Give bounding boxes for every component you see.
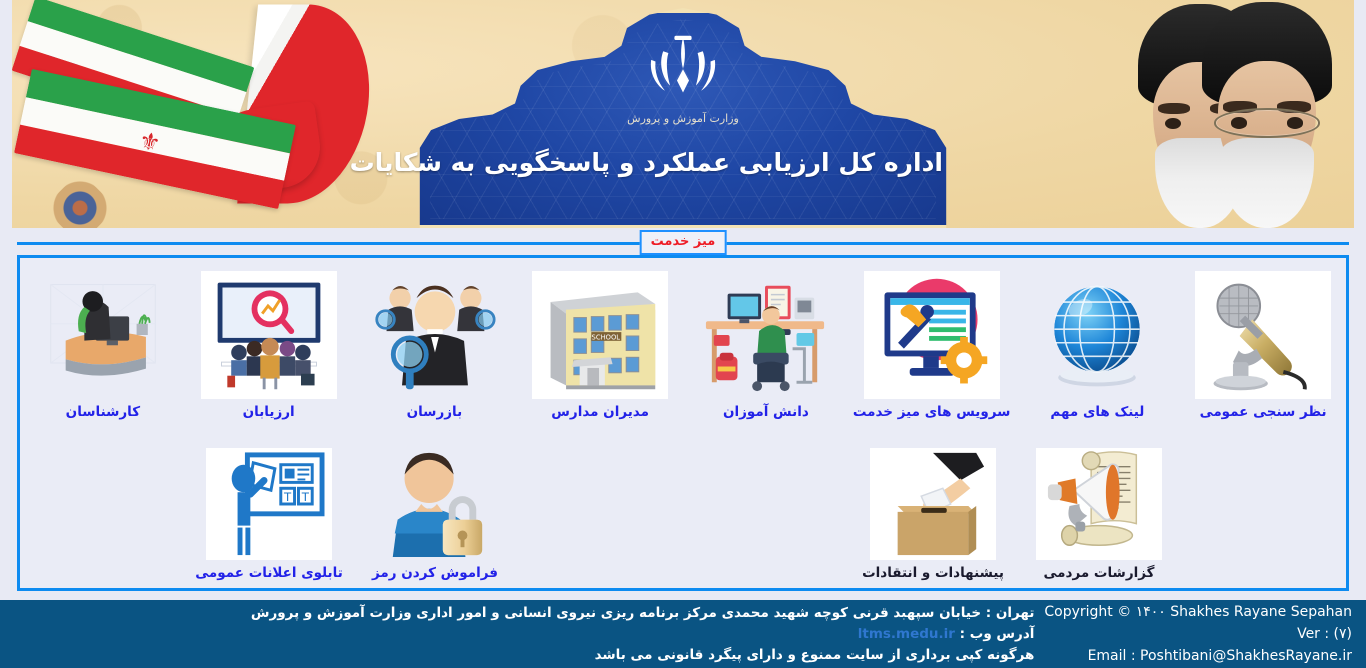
iran-emblem-icon: [640, 34, 726, 108]
leaders-portraits: [1134, 0, 1342, 228]
website-line: آدرس وب : ltms.medu.ir: [14, 624, 1034, 645]
copy-notice-text: هرگونه کپی برداری از سایت ممنوع و دارای …: [14, 645, 1034, 666]
website-link[interactable]: ltms.medu.ir: [858, 626, 955, 642]
suggestion-ballot-box-icon: [870, 448, 996, 560]
tile-arzyaban[interactable]: ارزیابان: [186, 271, 352, 420]
iran-flag-ribbon-icon: ⚜: [12, 0, 432, 228]
tab-service-desk[interactable]: میز خدمت: [640, 230, 727, 255]
tile-label: دانش آموزان: [723, 404, 809, 420]
service-row-2: T T تابلوی اعلانات عمومی: [20, 448, 1346, 588]
service-desk-panel: کارشناسان: [17, 258, 1349, 591]
tile-servis-haye-miz-khedmat[interactable]: سرویس های میز خدمت: [849, 271, 1015, 420]
tile-danesh-amoozan[interactable]: دانش آموزان: [683, 271, 849, 420]
tile-label: لینک های مهم: [1050, 404, 1144, 420]
tile-label: پیشنهادات و انتقادات: [862, 565, 1004, 581]
tile-bazrasan[interactable]: بازرسان: [352, 271, 518, 420]
svg-text:SCHOOL: SCHOOL: [592, 333, 621, 341]
service-desk-tools-monitor-icon: [864, 271, 1000, 399]
inspector-magnifier-icon: [366, 271, 502, 399]
service-row-1: کارشناسان: [20, 258, 1346, 448]
service-desk-tab-strip: میز خدمت: [0, 228, 1366, 258]
ministry-label: وزارت آموزش و پرورش: [533, 112, 833, 125]
portrait-khamenei-icon: [1202, 2, 1332, 228]
forgot-password-lock-icon: [372, 448, 498, 560]
megaphone-scroll-icon: [1036, 448, 1162, 560]
tile-label: سرویس های میز خدمت: [853, 404, 1011, 420]
banner-background: ⚜ وزارت آموزش و پرورش اداره کل ار: [12, 0, 1354, 228]
tile-label: بازرسان: [407, 404, 463, 420]
tile-karshenasan[interactable]: کارشناسان: [20, 271, 186, 420]
tile-link-haye-mohem[interactable]: لینک های مهم: [1015, 271, 1181, 420]
svg-text:T: T: [283, 490, 292, 504]
tile-faramoosh-kardan-ramz[interactable]: فراموش کردن رمز: [352, 448, 518, 581]
globe-icon: [1029, 271, 1165, 399]
copyright-text: Copyright © ۱۴۰۰ Shakhes Rayane Sepahan: [1044, 601, 1352, 623]
expert-desk-icon: [35, 271, 171, 399]
tile-modiran-madares[interactable]: SCHOOL مدیران مدارس: [517, 271, 683, 420]
tile-label: فراموش کردن رمز: [372, 565, 498, 581]
footer-left-block: Copyright © ۱۴۰۰ Shakhes Rayane Sepahan …: [1034, 601, 1352, 667]
student-desk-icon: [698, 271, 834, 399]
banner-arch-plaque: وزارت آموزش و پرورش اداره کل ارزیابی عمل…: [403, 8, 963, 228]
version-text: Ver : (۷): [1044, 623, 1352, 645]
tile-tabloye-elanat-omoomi[interactable]: T T تابلوی اعلانات عمومی: [186, 448, 352, 581]
svg-text:T: T: [301, 490, 310, 504]
site-banner: ⚜ وزارت آموزش و پرورش اداره کل ار: [0, 0, 1366, 228]
tile-label: کارشناسان: [66, 404, 140, 420]
footer-right-block: تهران : خیابان سپهبد قرنی کوچه شهید محمد…: [14, 603, 1034, 666]
microphone-icon: [1195, 271, 1331, 399]
tile-label: نظر سنجی عمومی: [1200, 404, 1327, 420]
site-footer: Copyright © ۱۴۰۰ Shakhes Rayane Sepahan …: [0, 600, 1366, 668]
tile-label: تابلوی اعلانات عمومی: [195, 565, 343, 581]
website-label: آدرس وب :: [960, 626, 1035, 642]
tile-label: مدیران مدارس: [551, 404, 649, 420]
address-text: تهران : خیابان سپهبد قرنی کوچه شهید محمد…: [14, 603, 1034, 624]
tile-gozareshat-mardomi[interactable]: گزارشات مردمی: [1016, 448, 1182, 581]
tile-label: ارزیابان: [243, 404, 295, 420]
school-building-icon: SCHOOL: [532, 271, 668, 399]
evaluators-meeting-icon: [201, 271, 337, 399]
department-title: اداره کل ارزیابی عملکرد و پاسخگویی به شک…: [423, 148, 943, 177]
tile-pishnahadat-va-enteghadat[interactable]: پیشنهادات و انتقادات: [850, 448, 1016, 581]
public-bulletin-board-icon: T T: [206, 448, 332, 560]
tile-label: گزارشات مردمی: [1044, 565, 1155, 581]
tile-nazar-sanji-omoomi[interactable]: نظر سنجی عمومی: [1180, 271, 1346, 420]
email-text: Email : Poshtibani@ShakhesRayane.ir: [1044, 645, 1352, 667]
